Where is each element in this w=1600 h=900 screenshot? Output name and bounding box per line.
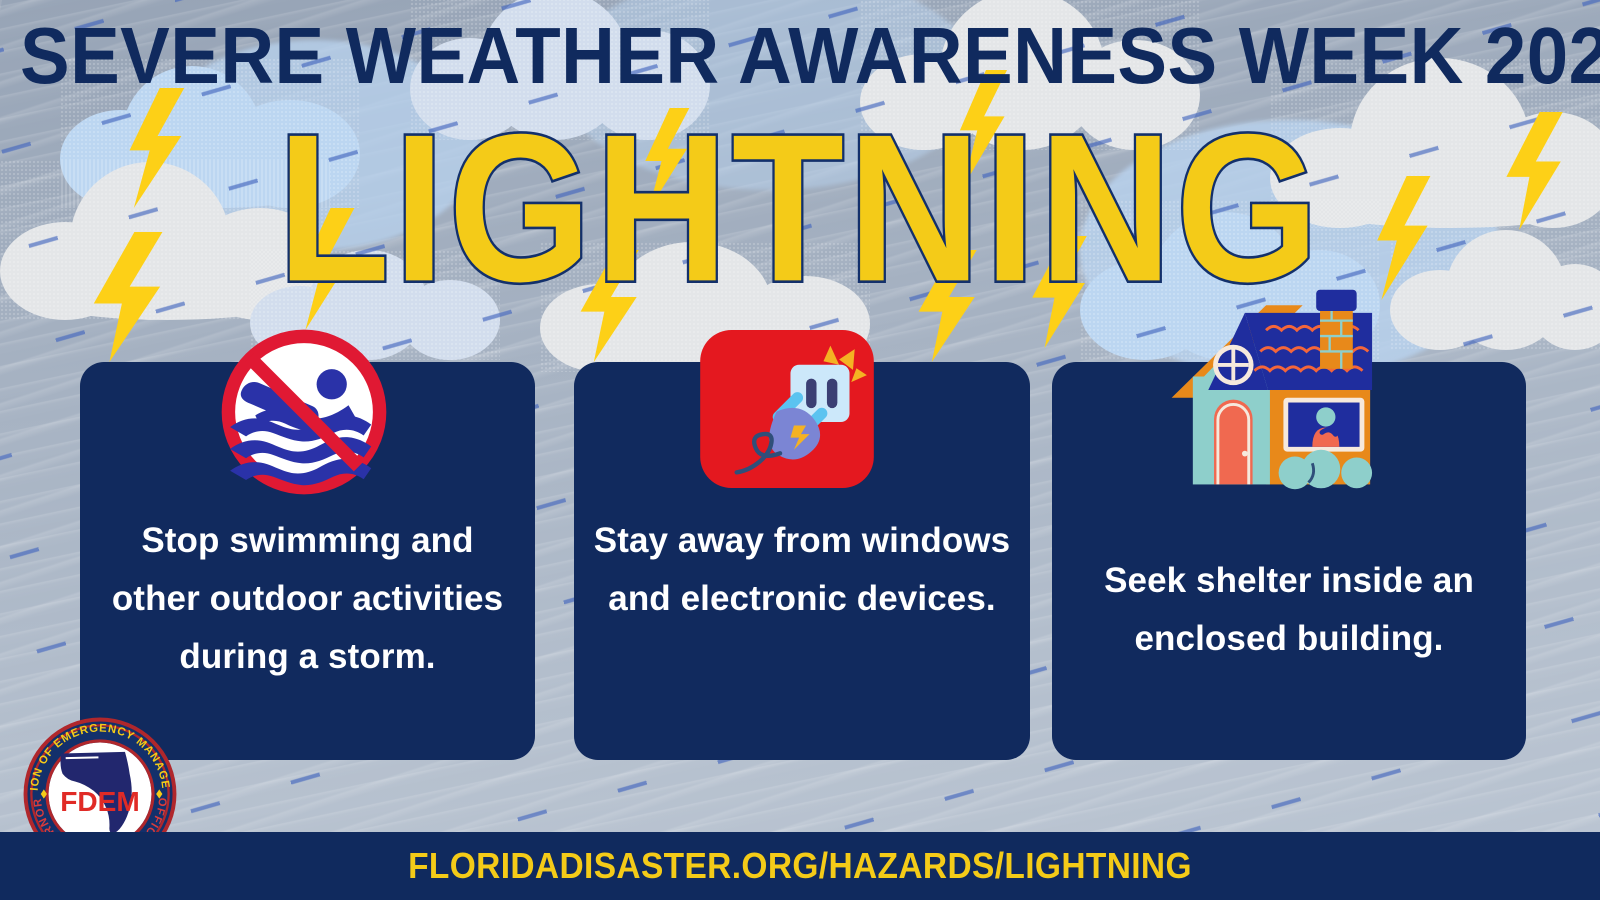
hazard-title: LIGHTNING [64, 104, 1536, 314]
house-shelter-icon [1152, 284, 1384, 496]
tip-card-text: Seek shelter inside an enclosed building… [1066, 552, 1512, 668]
poster-canvas: SEVERE WEATHER AWARENESS WEEK 2024 LIGHT… [0, 0, 1600, 900]
tip-card-text: Stop swimming and other outdoor activiti… [94, 512, 521, 686]
tip-card-text: Stay away from windows and electronic de… [588, 512, 1016, 628]
website-url[interactable]: FLORIDADISASTER.ORG/HAZARDS/LIGHTNING [56, 832, 1544, 900]
footer-bar: FLORIDADISASTER.ORG/HAZARDS/LIGHTNING [0, 832, 1600, 900]
no-swimming-icon [220, 328, 388, 496]
seal-center-text: FDEM [60, 786, 140, 817]
unplug-outlet-icon [700, 330, 874, 488]
page-title: SEVERE WEATHER AWARENESS WEEK 2024 [20, 14, 1471, 98]
